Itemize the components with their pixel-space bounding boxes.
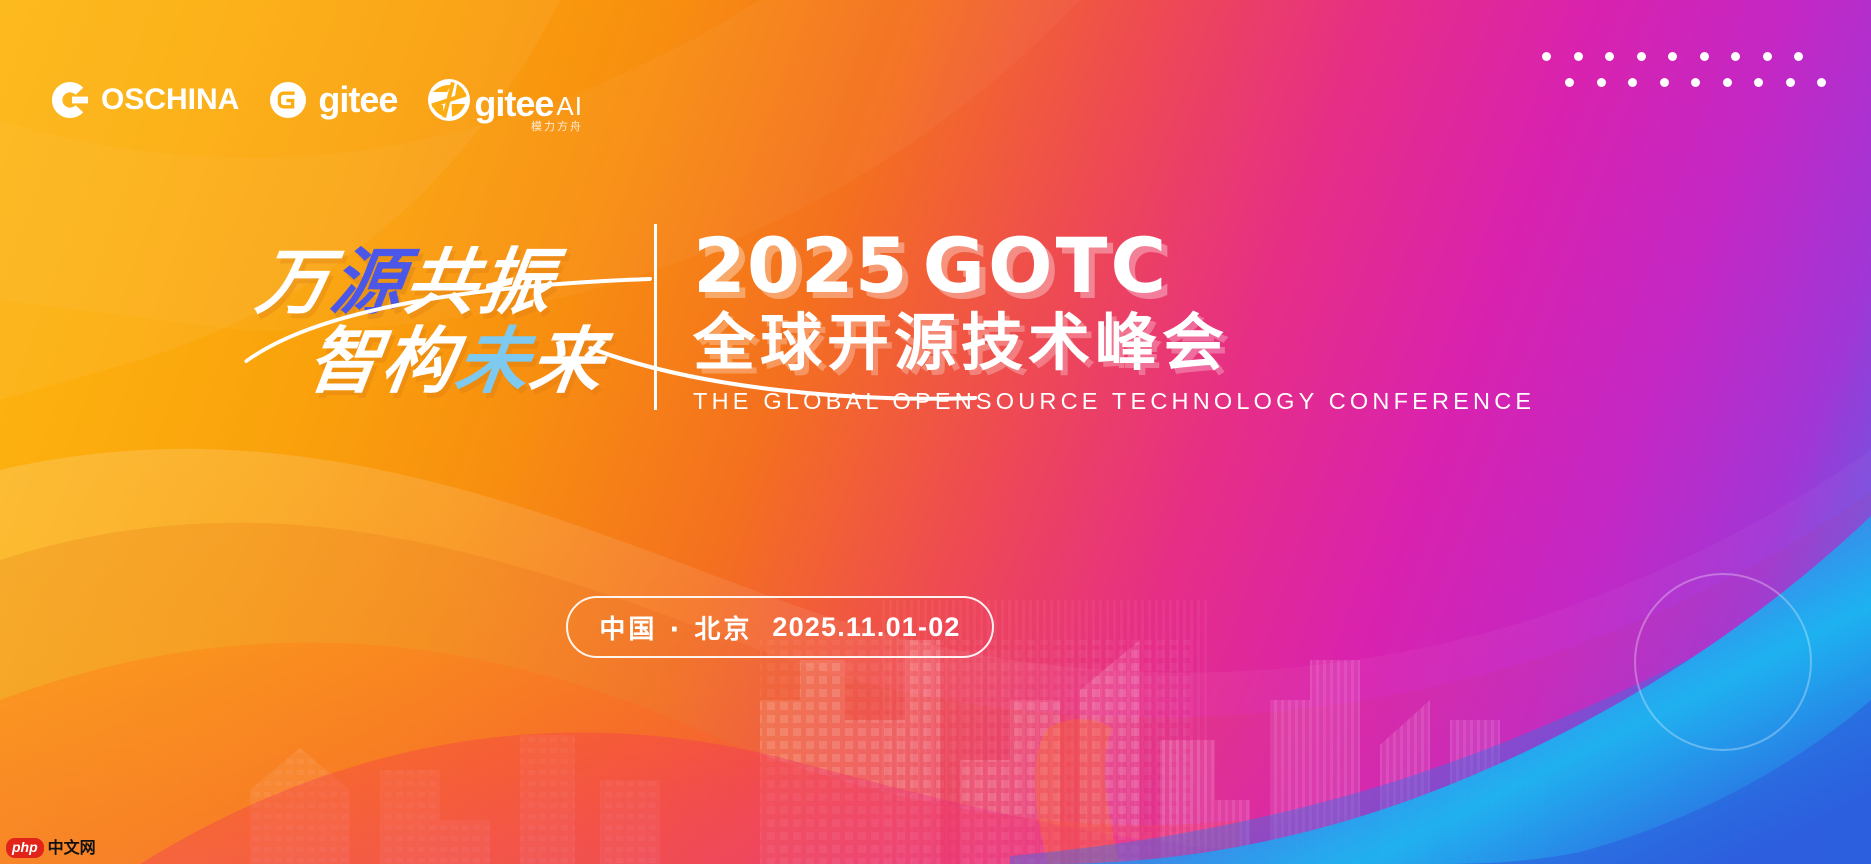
- watermark-label: 中文网: [48, 840, 96, 856]
- dot-grid-row: [1542, 52, 1826, 61]
- slogan-line-2-part-1: 智构: [303, 318, 463, 402]
- event-info-pill: 中国 · 北京 2025.11.01-02: [566, 596, 994, 658]
- grid-dot: [1565, 78, 1574, 87]
- grid-dot: [1574, 52, 1583, 61]
- grid-dot: [1628, 78, 1637, 87]
- gitee-ai-subtitle: 模力方舟: [531, 118, 583, 134]
- dot-grid-decoration: [1542, 52, 1826, 104]
- watermark-badge: php: [6, 838, 44, 859]
- slogan-line-1-highlight: 源: [326, 240, 412, 324]
- logo-bar: OSCHINA gitee gitee A: [50, 78, 583, 122]
- grid-dot: [1660, 78, 1669, 87]
- grid-dot: [1637, 52, 1646, 61]
- grid-dot: [1542, 52, 1551, 61]
- grid-dot: [1605, 52, 1614, 61]
- grid-dot: [1691, 78, 1700, 87]
- grid-dot: [1700, 52, 1709, 61]
- grid-dot: [1731, 52, 1740, 61]
- english-subtitle: THE GLOBAL OPENSOURCE TECHNOLOGY CONFERE…: [693, 388, 1535, 415]
- grid-dot: [1817, 78, 1826, 87]
- oschina-logo[interactable]: OSCHINA: [50, 80, 239, 120]
- lockup-divider: [654, 224, 657, 410]
- slogan-line-1-part-2: 共振: [400, 240, 560, 324]
- background-decoration: [0, 0, 1871, 864]
- title-lockup: 万源共振 智构未来 2025GOTC 全球开源技术峰会 THE GLOBAL O…: [252, 228, 1535, 415]
- gitee-g-icon: [269, 81, 307, 119]
- gitee-ai-logo[interactable]: gitee AI 模力方舟: [427, 78, 583, 122]
- oschina-wordmark: OSCHINA: [101, 85, 239, 115]
- grid-dot: [1786, 78, 1795, 87]
- event-date: 2025.11.01-02: [772, 612, 960, 643]
- slogan-line-1: 万源共振: [253, 247, 621, 318]
- grid-dot: [1597, 78, 1606, 87]
- dot-grid-row: [1565, 78, 1826, 87]
- site-watermark: php 中文网: [6, 838, 96, 859]
- grid-dot: [1763, 52, 1772, 61]
- slogan-line-2-highlight: 未: [451, 318, 537, 402]
- gitee-wordmark: gitee: [318, 82, 397, 118]
- chinese-subtitle: 全球开源技术峰会: [693, 310, 1535, 376]
- brand-year: 2025: [693, 221, 909, 310]
- gitee-ai-globe-icon: [427, 78, 471, 122]
- chinese-slogan: 万源共振 智构未来: [242, 247, 651, 396]
- slogan-line-1-part-1: 万: [252, 240, 338, 324]
- slogan-line-2-part-2: 来: [525, 318, 611, 402]
- brand-title: 2025GOTC: [693, 228, 1535, 304]
- event-location: 中国 · 北京: [599, 609, 752, 646]
- grid-dot: [1668, 52, 1677, 61]
- gitee-ai-wordmark: gitee: [474, 86, 553, 122]
- grid-dot: [1794, 52, 1803, 61]
- oschina-c-icon: [50, 80, 90, 120]
- gotc-2025-conference-banner: OSCHINA gitee gitee A: [0, 0, 1871, 864]
- grid-dot: [1754, 78, 1763, 87]
- brand-block: 2025GOTC 全球开源技术峰会 THE GLOBAL OPENSOURCE …: [693, 228, 1535, 415]
- gitee-logo[interactable]: gitee: [269, 81, 397, 119]
- grid-dot: [1723, 78, 1732, 87]
- brand-name: GOTC: [923, 221, 1170, 310]
- slogan-line-2: 智构未来: [304, 325, 610, 396]
